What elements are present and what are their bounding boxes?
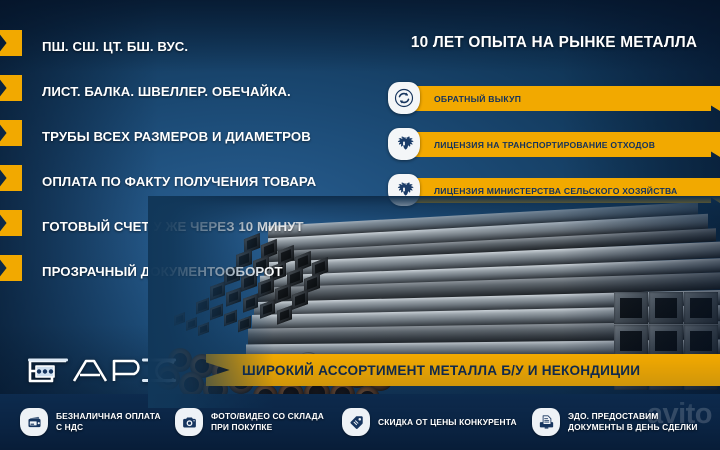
footer-item-line1: ЭДО. ПРЕДОСТАВИМ [568,411,658,421]
photo-fade-overlay [148,196,720,408]
list-item: ПШ. СШ. ЦТ. БШ. ВУС. [0,24,340,69]
footer-item-line1: ФОТО/ВИДЕО СО СКЛАДА [211,411,324,421]
credential-item: ОБРАТНЫЙ ВЫКУП [388,82,720,128]
footer-item-line2: ДОКУМЕНТЫ В ДЕНЬ СДЕЛКИ [568,422,698,432]
yellow-tab-marker-icon [0,210,22,236]
footer-item-text: СКИДКА ОТ ЦЕНЫ КОНКУРЕНТА [378,417,517,428]
list-item-label: ОПЛАТА ПО ФАКТУ ПОЛУЧЕНИЯ ТОВАРА [42,174,316,189]
credential-item: ЛИЦЕНЗИЯ НА ТРАНСПОРТИРОВАНИЕ ОТХОДОВ [388,128,720,174]
footer-item: ФОТО/ВИДЕО СО СКЛАДА ПРИ ПОКУПКЕ [175,402,324,442]
wallet-card-icon [20,408,48,436]
price-tag-icon [342,408,370,436]
list-item-label: ТРУБЫ ВСЕХ РАЗМЕРОВ И ДИАМЕТРОВ [42,129,311,144]
yellow-tab-marker-icon [0,30,22,56]
camera-icon [175,408,203,436]
footer-item-text: ЭДО. ПРЕДОСТАВИМ ДОКУМЕНТЫ В ДЕНЬ СДЕЛКИ [568,411,698,433]
yellow-tab-marker-icon [0,120,22,146]
footer-item-line2: С НДС [56,422,83,432]
circular-arrows-icon [388,82,420,114]
footer-item: ЭДО. ПРЕДОСТАВИМ ДОКУМЕНТЫ В ДЕНЬ СДЕЛКИ [532,402,698,442]
footer-item-line1: БЕЗНАЛИЧНАЯ ОПЛАТА [56,411,161,421]
page-title: 10 ЛЕТ ОПЫТА НА РЫНКЕ МЕТАЛЛА [388,34,720,52]
footer-item-text: БЕЗНАЛИЧНАЯ ОПЛАТА С НДС [56,411,161,433]
yellow-tab-marker-icon [0,165,22,191]
list-item: ЛИСТ. БАЛКА. ШВЕЛЛЕР. ОБЕЧАЙКА. [0,69,340,114]
logo-text: БАРС [22,389,23,390]
footer-item-line1: СКИДКА ОТ ЦЕНЫ КОНКУРЕНТА [378,417,517,427]
yellow-tab-marker-icon [0,75,22,101]
footer-item-line2: ПРИ ПОКУПКЕ [211,422,272,432]
footer-item: СКИДКА ОТ ЦЕНЫ КОНКУРЕНТА [342,402,517,442]
footer-item-text: ФОТО/ВИДЕО СО СКЛАДА ПРИ ПОКУПКЕ [211,411,324,433]
double-headed-eagle-icon [388,128,420,160]
document-monitor-icon [532,408,560,436]
yellow-tab-marker-icon [0,255,22,281]
list-item-label: ПШ. СШ. ЦТ. БШ. ВУС. [42,39,188,54]
list-item: ТРУБЫ ВСЕХ РАЗМЕРОВ И ДИАМЕТРОВ [0,114,340,159]
credential-label: ОБРАТНЫЙ ВЫКУП [434,86,521,111]
advertisement-banner: ПШ. СШ. ЦТ. БШ. ВУС. ЛИСТ. БАЛКА. ШВЕЛЛЕ… [0,0,720,450]
credential-label: ЛИЦЕНЗИЯ НА ТРАНСПОРТИРОВАНИЕ ОТХОДОВ [434,132,655,157]
footer-item: БЕЗНАЛИЧНАЯ ОПЛАТА С НДС [20,402,161,442]
list-item-label: ЛИСТ. БАЛКА. ШВЕЛЛЕР. ОБЕЧАЙКА. [42,84,291,99]
metal-stock-photo [148,196,720,408]
